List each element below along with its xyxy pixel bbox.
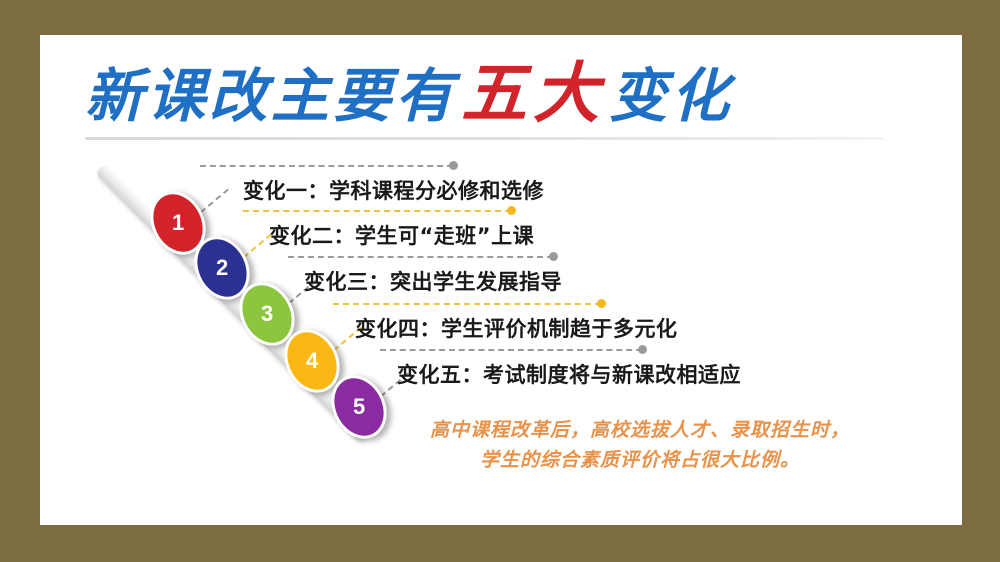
- connector-dot-1: [449, 161, 458, 170]
- step-number-2: 2: [216, 255, 228, 281]
- step-number-4: 4: [306, 348, 318, 374]
- connector-horizontal-5: [380, 349, 642, 351]
- connector-horizontal-2: [243, 210, 511, 212]
- connector-dot-5: [638, 345, 647, 354]
- slide-canvas: 新课改主要有五大变化 变化一：学科课程分必修和选修 变化二：学生可“走班”上课 …: [40, 35, 962, 525]
- step-number-1: 1: [172, 210, 184, 236]
- connector-horizontal-3: [288, 256, 553, 258]
- footer-note-line-1: 高中课程改革后，高校选拔人才、录取招生时，: [380, 415, 900, 445]
- connector-dot-4: [597, 299, 606, 308]
- title-text: 新课改主要有五大变化: [85, 53, 915, 136]
- slide-frame: 新课改主要有五大变化 变化一：学科课程分必修和选修 变化二：学生可“走班”上课 …: [0, 0, 1000, 562]
- item-label-2: 变化二：学生可“走班”上课: [269, 220, 534, 250]
- connector-horizontal-4: [333, 303, 601, 305]
- step-number-5: 5: [353, 394, 365, 420]
- page-title: 新课改主要有五大变化: [85, 53, 915, 139]
- diagonal-band: [95, 163, 371, 444]
- item-label-5: 变化五：考试制度将与新课改相适应: [397, 359, 741, 389]
- item-label-1: 变化一：学科课程分必修和选修: [243, 175, 544, 205]
- footer-note-line-2: 学生的综合素质评价将占很大比例。: [380, 445, 900, 475]
- footer-note: 高中课程改革后，高校选拔人才、录取招生时， 学生的综合素质评价将占很大比例。: [380, 415, 900, 475]
- item-label-4: 变化四：学生评价机制趋于多元化: [355, 313, 678, 343]
- connector-horizontal-1: [200, 165, 453, 167]
- connector-dot-3: [549, 252, 558, 261]
- title-divider: [85, 137, 885, 140]
- title-part-tail: 变化: [609, 62, 733, 130]
- item-label-3: 变化三：突出学生发展指导: [304, 266, 562, 296]
- step-number-3: 3: [261, 301, 273, 327]
- title-part-lead: 新课改主要有: [85, 62, 457, 130]
- connector-dot-2: [507, 206, 516, 215]
- title-part-highlight: 五大: [457, 54, 609, 132]
